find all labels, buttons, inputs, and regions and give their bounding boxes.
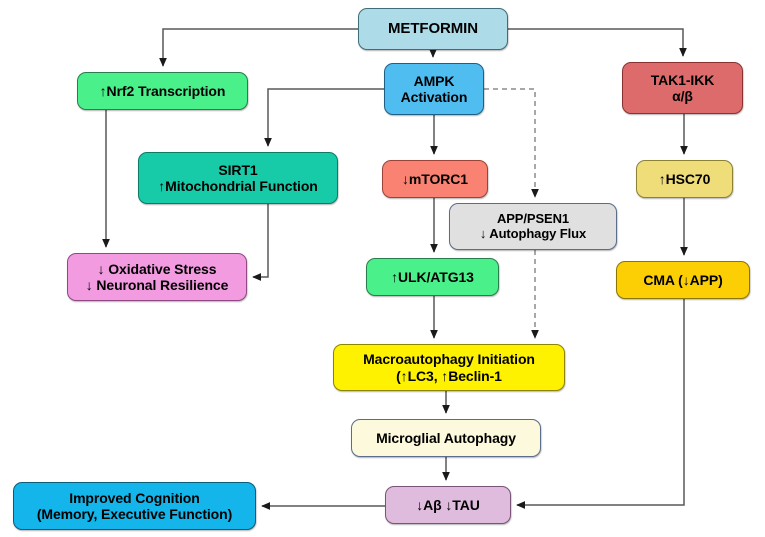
node-oxidative-line-2: ↓ Neuronal Resilience bbox=[86, 277, 229, 293]
node-ulk-line-1: ↑ULK/ATG13 bbox=[391, 269, 474, 285]
node-microglial[interactable]: Microglial Autophagy bbox=[351, 419, 541, 457]
node-mtorc1[interactable]: ↓mTORC1 bbox=[382, 160, 488, 198]
node-nrf2[interactable]: ↑Nrf2 Transcription bbox=[77, 72, 248, 110]
node-sirt1-line-1: SIRT1 bbox=[218, 162, 257, 178]
node-apppsen1-line-1: APP/PSEN1 bbox=[497, 212, 569, 227]
node-microglial-line-1: Microglial Autophagy bbox=[376, 430, 516, 446]
node-hsc70-line-1: ↑HSC70 bbox=[659, 171, 711, 187]
node-macro-line-1: Macroautophagy Initiation bbox=[363, 351, 535, 367]
node-cognition-line-2: (Memory, Executive Function) bbox=[37, 506, 232, 522]
node-abtau-line-1: ↓Aβ ↓TAU bbox=[416, 497, 479, 513]
node-cma[interactable]: CMA (↓APP) bbox=[616, 261, 750, 299]
node-oxidative-line-1: ↓ Oxidative Stress bbox=[98, 261, 217, 277]
node-nrf2-line-1: ↑Nrf2 Transcription bbox=[100, 83, 226, 99]
node-abtau[interactable]: ↓Aβ ↓TAU bbox=[385, 486, 511, 524]
node-tak1[interactable]: TAK1-IKKα/β bbox=[622, 62, 743, 114]
node-ampk-line-1: AMPK bbox=[414, 73, 455, 89]
edge-cma-abtau bbox=[517, 299, 684, 505]
edge-ampk-apppsen1-dashed bbox=[484, 89, 535, 197]
node-oxidative[interactable]: ↓ Oxidative Stress↓ Neuronal Resilience bbox=[67, 253, 247, 301]
node-hsc70[interactable]: ↑HSC70 bbox=[636, 160, 733, 198]
edge-metformin-nrf2 bbox=[163, 29, 358, 66]
node-ampk[interactable]: AMPKActivation bbox=[384, 63, 484, 115]
node-cognition-line-1: Improved Cognition bbox=[69, 490, 199, 506]
node-ampk-line-2: Activation bbox=[401, 89, 468, 105]
edge-sirt1-oxidative bbox=[253, 204, 268, 277]
node-macro[interactable]: Macroautophagy Initiation(↑LC3, ↑Beclin-… bbox=[333, 344, 565, 391]
node-sirt1-line-2: ↑Mitochondrial Function bbox=[158, 178, 317, 194]
diagram-canvas: METFORMIN↑Nrf2 TranscriptionAMPKActivati… bbox=[0, 0, 765, 537]
node-cognition[interactable]: Improved Cognition(Memory, Executive Fun… bbox=[13, 482, 256, 530]
node-macro-line-2: (↑LC3, ↑Beclin-1 bbox=[396, 368, 502, 384]
node-apppsen1[interactable]: APP/PSEN1↓ Autophagy Flux bbox=[449, 203, 617, 250]
node-sirt1[interactable]: SIRT1↑Mitochondrial Function bbox=[138, 152, 338, 204]
node-metformin-line-1: METFORMIN bbox=[388, 20, 478, 37]
node-metformin[interactable]: METFORMIN bbox=[358, 8, 508, 50]
node-apppsen1-line-2: ↓ Autophagy Flux bbox=[480, 227, 586, 242]
node-tak1-line-2: α/β bbox=[672, 88, 693, 104]
node-tak1-line-1: TAK1-IKK bbox=[651, 72, 715, 88]
node-ulk[interactable]: ↑ULK/ATG13 bbox=[366, 258, 499, 296]
node-mtorc1-line-1: ↓mTORC1 bbox=[402, 171, 468, 187]
node-cma-line-1: CMA (↓APP) bbox=[643, 272, 722, 288]
edge-metformin-tak1 bbox=[508, 29, 683, 56]
edge-ampk-sirt1 bbox=[268, 89, 384, 146]
